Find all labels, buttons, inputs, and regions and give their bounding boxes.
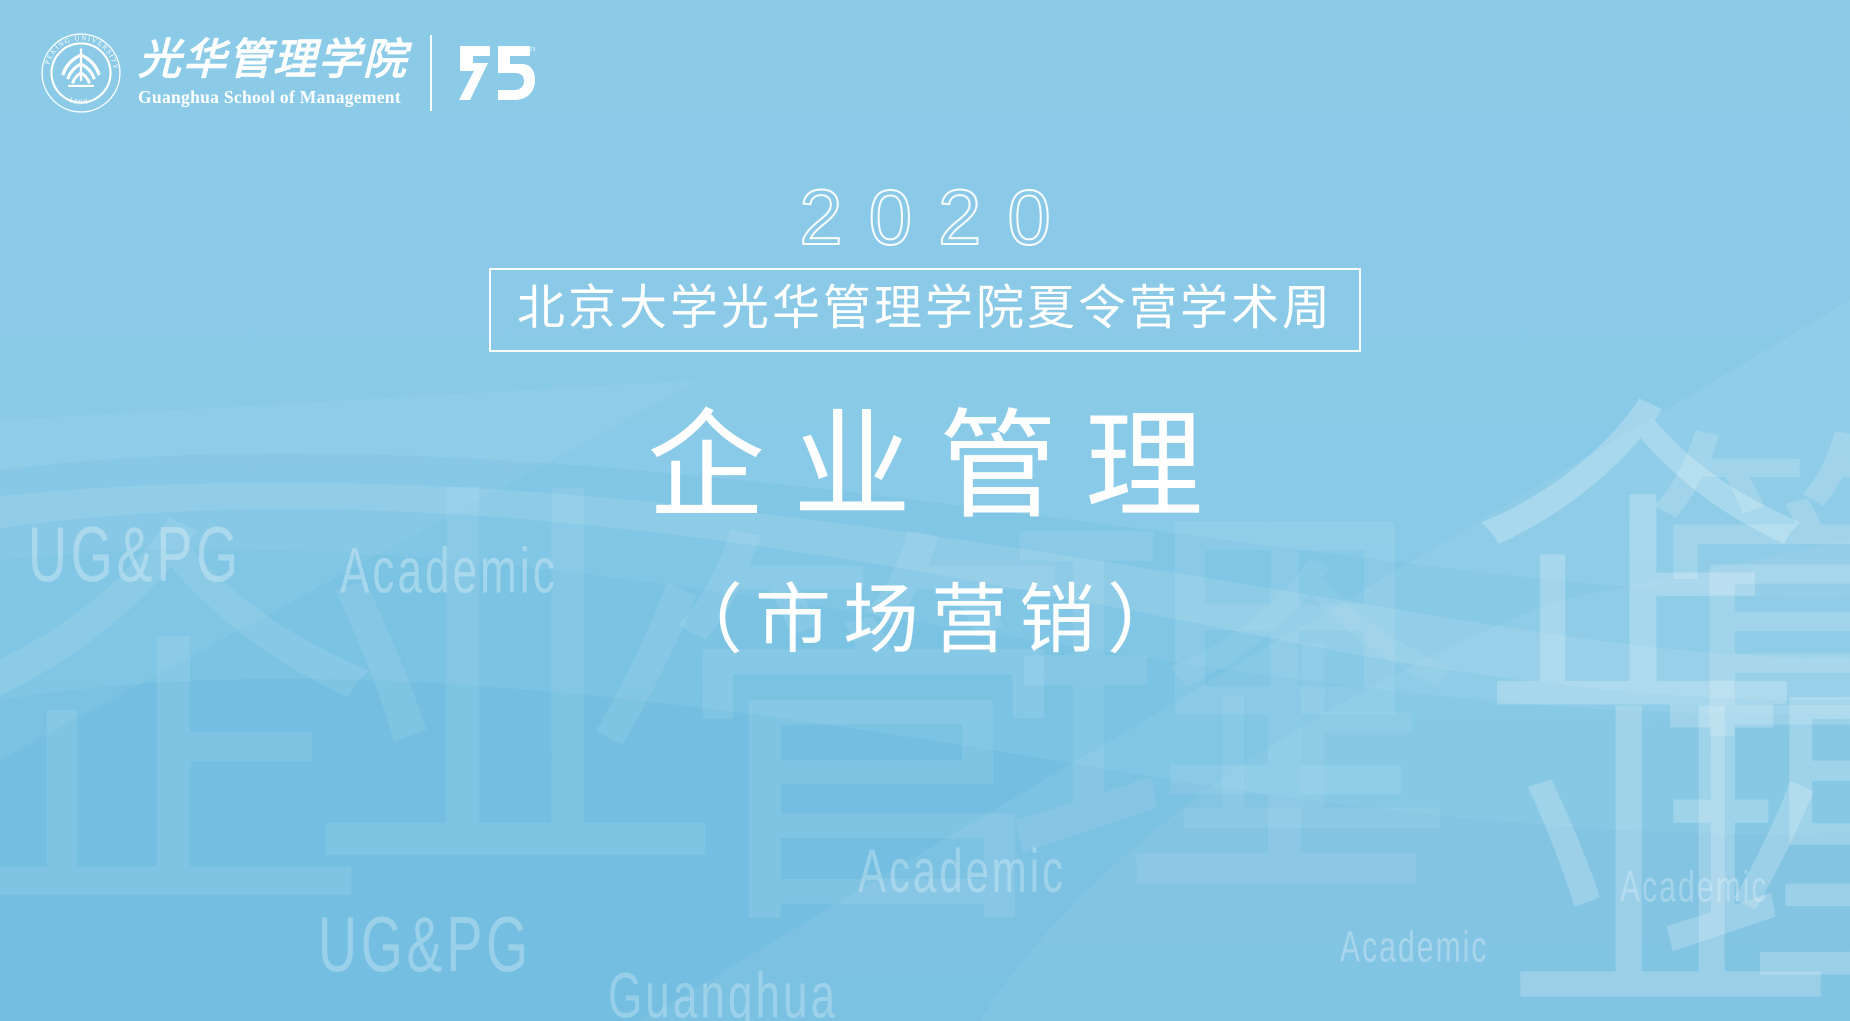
watermark-ugpg-2: UG&PG [318,906,532,984]
watermark-academic-4: Academic [1620,867,1769,911]
svg-text:1898: 1898 [68,95,91,106]
anniversary-75-icon: 1985-2023 [458,42,536,104]
program-title: 企业管理 [0,400,1850,532]
school-name-block: 光华管理学院 Guanghua School of Management [138,38,408,108]
peking-university-seal-icon: PEKING UNIVERSITY 1898 [40,32,122,114]
watermark-cn-8: 理 [1655,680,1850,1010]
school-name-cn: 光华管理学院 [138,38,408,83]
anniversary-years-label: 1985-2023 [508,47,536,53]
event-title: 北京大学光华管理学院夏令营学术周 [517,284,1333,332]
watermark-cn-4: 理 [1000,500,1430,930]
brand-lockup: PEKING UNIVERSITY 1898 光华管理学院 Guanghua S… [40,30,536,116]
school-name-en: Guanghua School of Management [138,87,408,108]
event-title-box: 北京大学光华管理学院夏令营学术周 [489,268,1361,352]
watermark-cn-2: 业 [300,480,730,910]
program-subtitle: （市场营销） [0,582,1850,658]
poster-canvas: UG&PG UG&PG Academic Academic Academic A… [0,0,1850,1021]
watermark-cn-6: 业 [1500,700,1840,1021]
logo-divider [430,35,432,111]
watermark-academic-3: Academic [1340,927,1489,971]
watermark-guanghua: Guanghua [608,965,838,1021]
year-label: 2020 [0,178,1850,256]
watermark-academic-2: Academic [858,841,1066,902]
